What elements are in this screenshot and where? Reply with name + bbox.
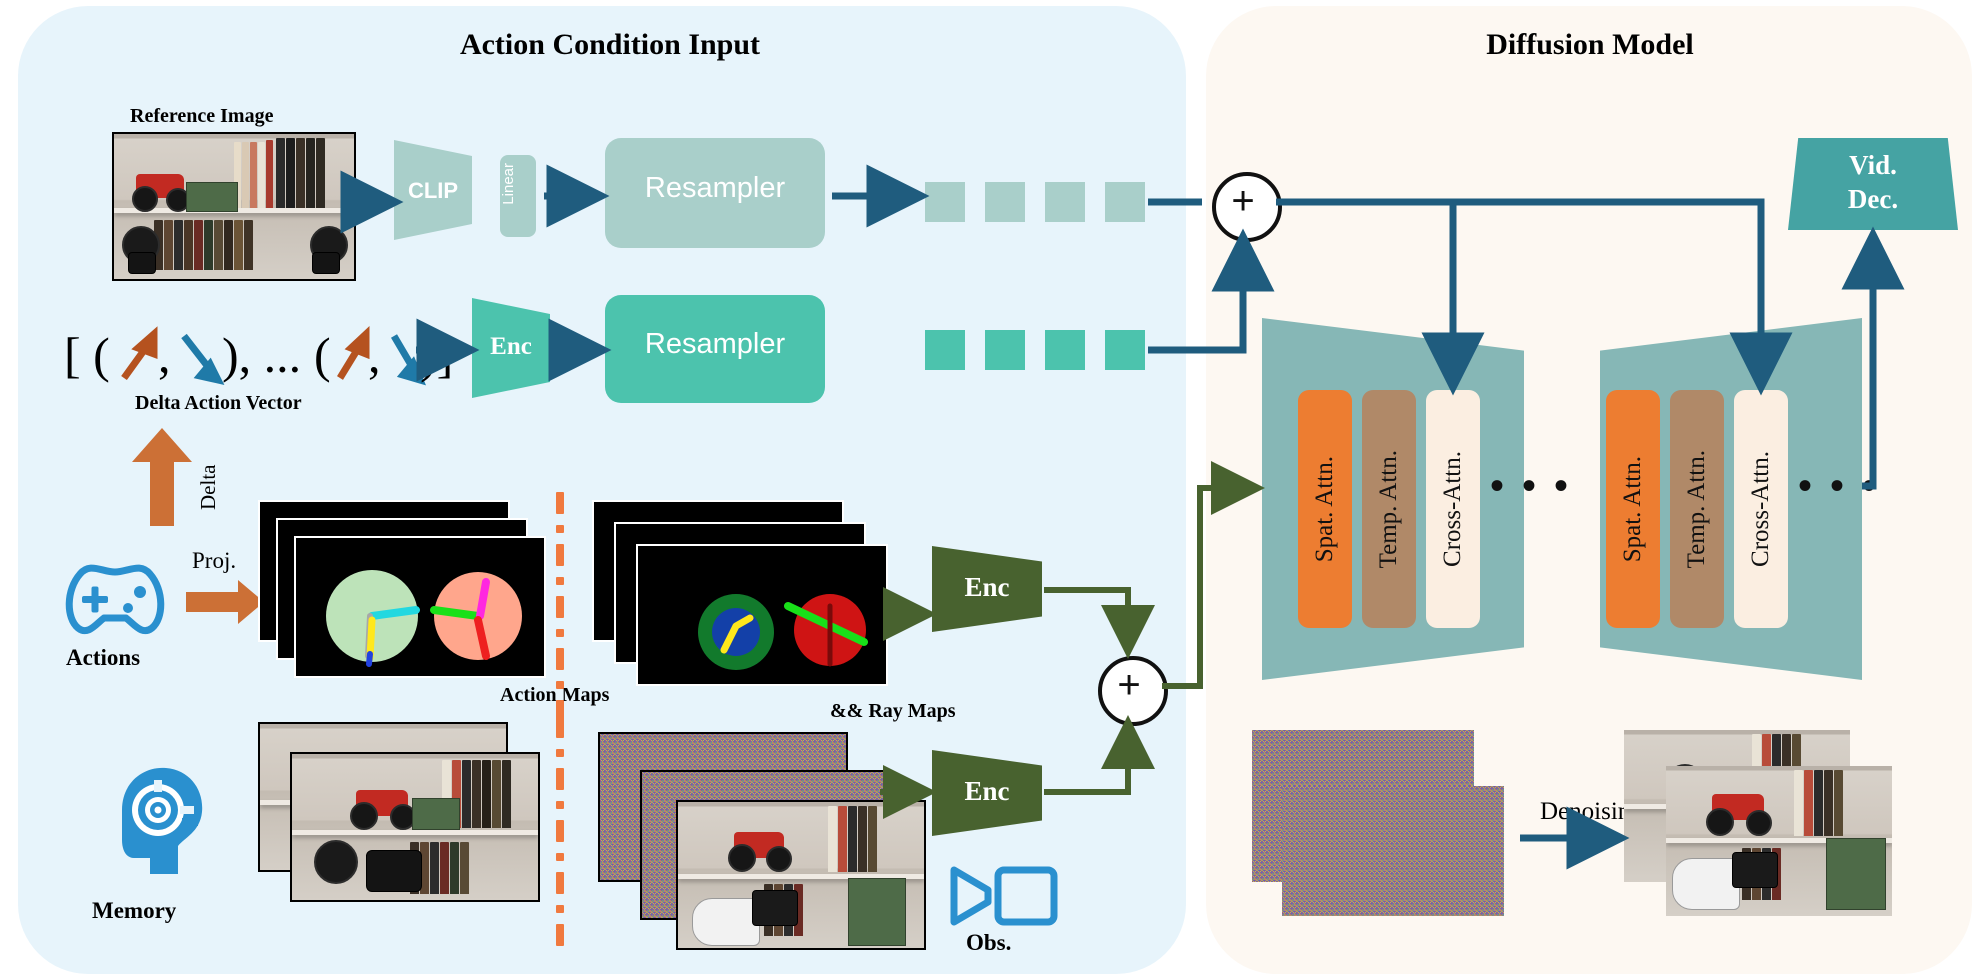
action-map-frame-front [294,536,546,678]
video-decoder-label-1: Vid. [1788,150,1958,181]
memory-photo-front [290,752,540,902]
separator-dashdot-lower [556,716,564,957]
spat-attn-block-left[interactable]: Spat. Attn. [1298,390,1352,628]
panel-title-diffusion-model: Diffusion Model [1320,28,1860,62]
spat-attn-label-right: Spat. Attn. [1619,456,1647,562]
obs-label: Obs. [966,930,1011,956]
temp-attn-block-left[interactable]: Temp. Attn. [1362,390,1416,628]
svg-text:), ...: ), ... [222,327,301,383]
cross-attn-label-left: Cross-Attn. [1439,451,1467,567]
camera-obs-icon [948,862,1060,933]
cross-attn-block-left[interactable]: Cross-Attn. [1426,390,1480,628]
svg-text:,: , [158,327,171,383]
image-token-3 [1045,182,1085,222]
ray-encoder-label: Enc [932,572,1042,603]
svg-text:,: , [368,327,381,383]
memory-brain-icon [108,762,208,887]
image-token-2 [985,182,1025,222]
action-token-3 [1045,330,1085,370]
cross-attn-block-right[interactable]: Cross-Attn. [1734,390,1788,628]
gamepad-icon [60,560,170,643]
obs-encoder-label: Enc [932,776,1042,807]
delta-action-vector-label: Delta Action Vector [135,392,302,415]
image-token-4 [1105,182,1145,222]
actions-label: Actions [66,645,140,671]
plus-sign-cond: + [1212,172,1274,234]
ray-maps-label: && Ray Maps [830,700,956,723]
ray-map-frame-front [636,544,888,686]
cross-attn-label-right: Cross-Attn. [1747,451,1775,567]
action-token-4 [1105,330,1145,370]
clip-label: CLIP [394,178,472,204]
denoise-output-clean-front [1666,766,1892,916]
plus-sign-latent: + [1098,656,1160,718]
separator-dashdot-upper [556,492,564,733]
delta-action-vector-expression: [ ( , ), ... ( , )] [62,320,462,390]
unet-ellipsis-right: • • • [1798,462,1880,509]
temp-attn-block-right[interactable]: Temp. Attn. [1670,390,1724,628]
action-token-2 [985,330,1025,370]
proj-arrow [186,580,264,629]
resampler-image-label: Resampler [605,172,825,205]
obs-photo-front [676,800,926,950]
delta-arrow [130,428,194,531]
action-encoder-label: Enc [472,333,550,361]
svg-text:)]: )] [420,327,453,383]
svg-text:(: ( [314,327,331,383]
linear-label: Linear [500,163,536,205]
spat-attn-block-right[interactable]: Spat. Attn. [1606,390,1660,628]
spat-attn-label-left: Spat. Attn. [1311,456,1339,562]
reference-image-label: Reference Image [130,105,273,128]
reference-image-photo [112,132,356,281]
delta-arrow-label: Delta [196,430,221,510]
memory-label: Memory [92,898,176,924]
panel-title-action-condition-input: Action Condition Input [300,28,920,62]
action-token-1 [925,330,965,370]
action-maps-label: Action Maps [500,684,609,707]
video-decoder-label-2: Dec. [1788,184,1958,215]
resampler-action-label: Resampler [605,328,825,361]
proj-label: Proj. [192,548,236,574]
unet-ellipsis-left: • • • [1490,462,1572,509]
image-token-1 [925,182,965,222]
temp-attn-label-right: Temp. Attn. [1683,450,1711,568]
temp-attn-label-left: Temp. Attn. [1375,450,1403,568]
svg-text:[ (: [ ( [64,327,110,383]
denoise-input-noisy-front [1282,786,1504,916]
